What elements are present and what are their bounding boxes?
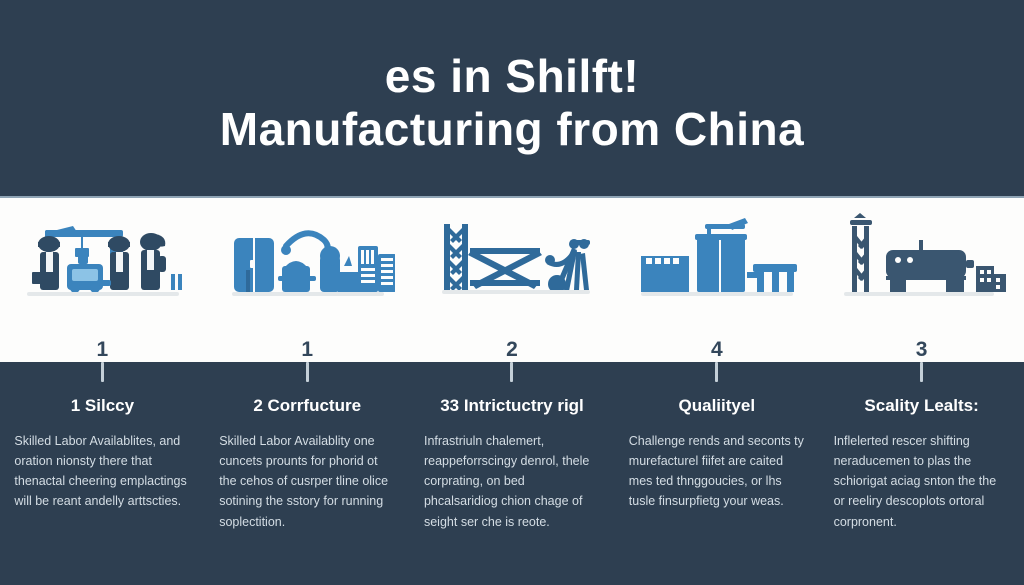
tick-cell-2 — [205, 362, 410, 384]
tick-cell-1 — [0, 362, 205, 384]
title-line-1: es in Shilft! — [385, 52, 639, 100]
content-column-3: 33 Intrictuctry rigl Infrastriuln chalem… — [410, 384, 615, 585]
content-column-2: 2 Corrfucture Skilled Labor Availablity … — [205, 384, 410, 585]
step-number-5: 3 — [916, 339, 928, 360]
workers-with-crane-icon — [15, 212, 190, 308]
title-block: es in Shilft! Manufacturing from China — [0, 0, 1024, 196]
oil-rig-machinery-icon — [834, 212, 1009, 308]
content-column-4: Qualiityel Challenge rends and seconts t… — [614, 384, 819, 585]
content-column-1: 1 Silccy Skilled Labor Availablites, and… — [0, 384, 205, 585]
column-heading: 1 Silccy — [71, 396, 134, 417]
infographic-root: es in Shilft! Manufacturing from China — [0, 0, 1024, 585]
tick-cell-4 — [614, 362, 819, 384]
robotic-arm-factory-icon — [220, 212, 395, 308]
column-heading: Scality Lealts: — [864, 396, 978, 417]
column-body-text: Skilled Labor Availablites, and oration … — [14, 431, 190, 512]
column-heading: 33 Intrictuctry rigl — [440, 396, 584, 417]
step-number-4: 4 — [711, 339, 723, 360]
connector-tick-icon — [920, 362, 923, 382]
icon-band: 1 — [0, 196, 1024, 362]
step-number-1: 1 — [97, 339, 109, 360]
column-heading: Qualiityel — [679, 396, 756, 417]
content-column-5: Scality Lealts: Inflelerted rescer shift… — [819, 384, 1024, 585]
connector-tick-icon — [306, 362, 309, 382]
connector-tick-icon — [101, 362, 104, 382]
icon-cell-4: 4 — [614, 198, 819, 362]
icon-cell-1: 1 — [0, 198, 205, 362]
column-body-text: Infrastriuln chalemert, reappeforrscingy… — [424, 431, 600, 532]
icon-cell-3: 2 — [410, 198, 615, 362]
tick-cell-3 — [410, 362, 615, 384]
connector-tick-icon — [510, 362, 513, 382]
step-number-2: 1 — [301, 339, 313, 360]
step-number-3: 2 — [506, 339, 518, 360]
column-heading: 2 Corrfucture — [253, 396, 361, 417]
connector-tick-row — [0, 362, 1024, 384]
connector-tick-icon — [715, 362, 718, 382]
column-body-text: Inflelerted rescer shifting neraducemen … — [834, 431, 1010, 532]
icon-cell-2: 1 — [205, 198, 410, 362]
icon-cell-5: 3 — [819, 198, 1024, 362]
content-row: 1 Silccy Skilled Labor Availablites, and… — [0, 384, 1024, 585]
tick-cell-5 — [819, 362, 1024, 384]
title-line-2: Manufacturing from China — [220, 104, 804, 156]
column-body-text: Skilled Labor Availablity one cuncets pr… — [219, 431, 395, 532]
factory-silos-crane-icon — [629, 212, 804, 308]
column-body-text: Challenge rends and seconts ty murefactu… — [629, 431, 805, 512]
infrastructure-truss-tower-icon — [424, 212, 599, 308]
